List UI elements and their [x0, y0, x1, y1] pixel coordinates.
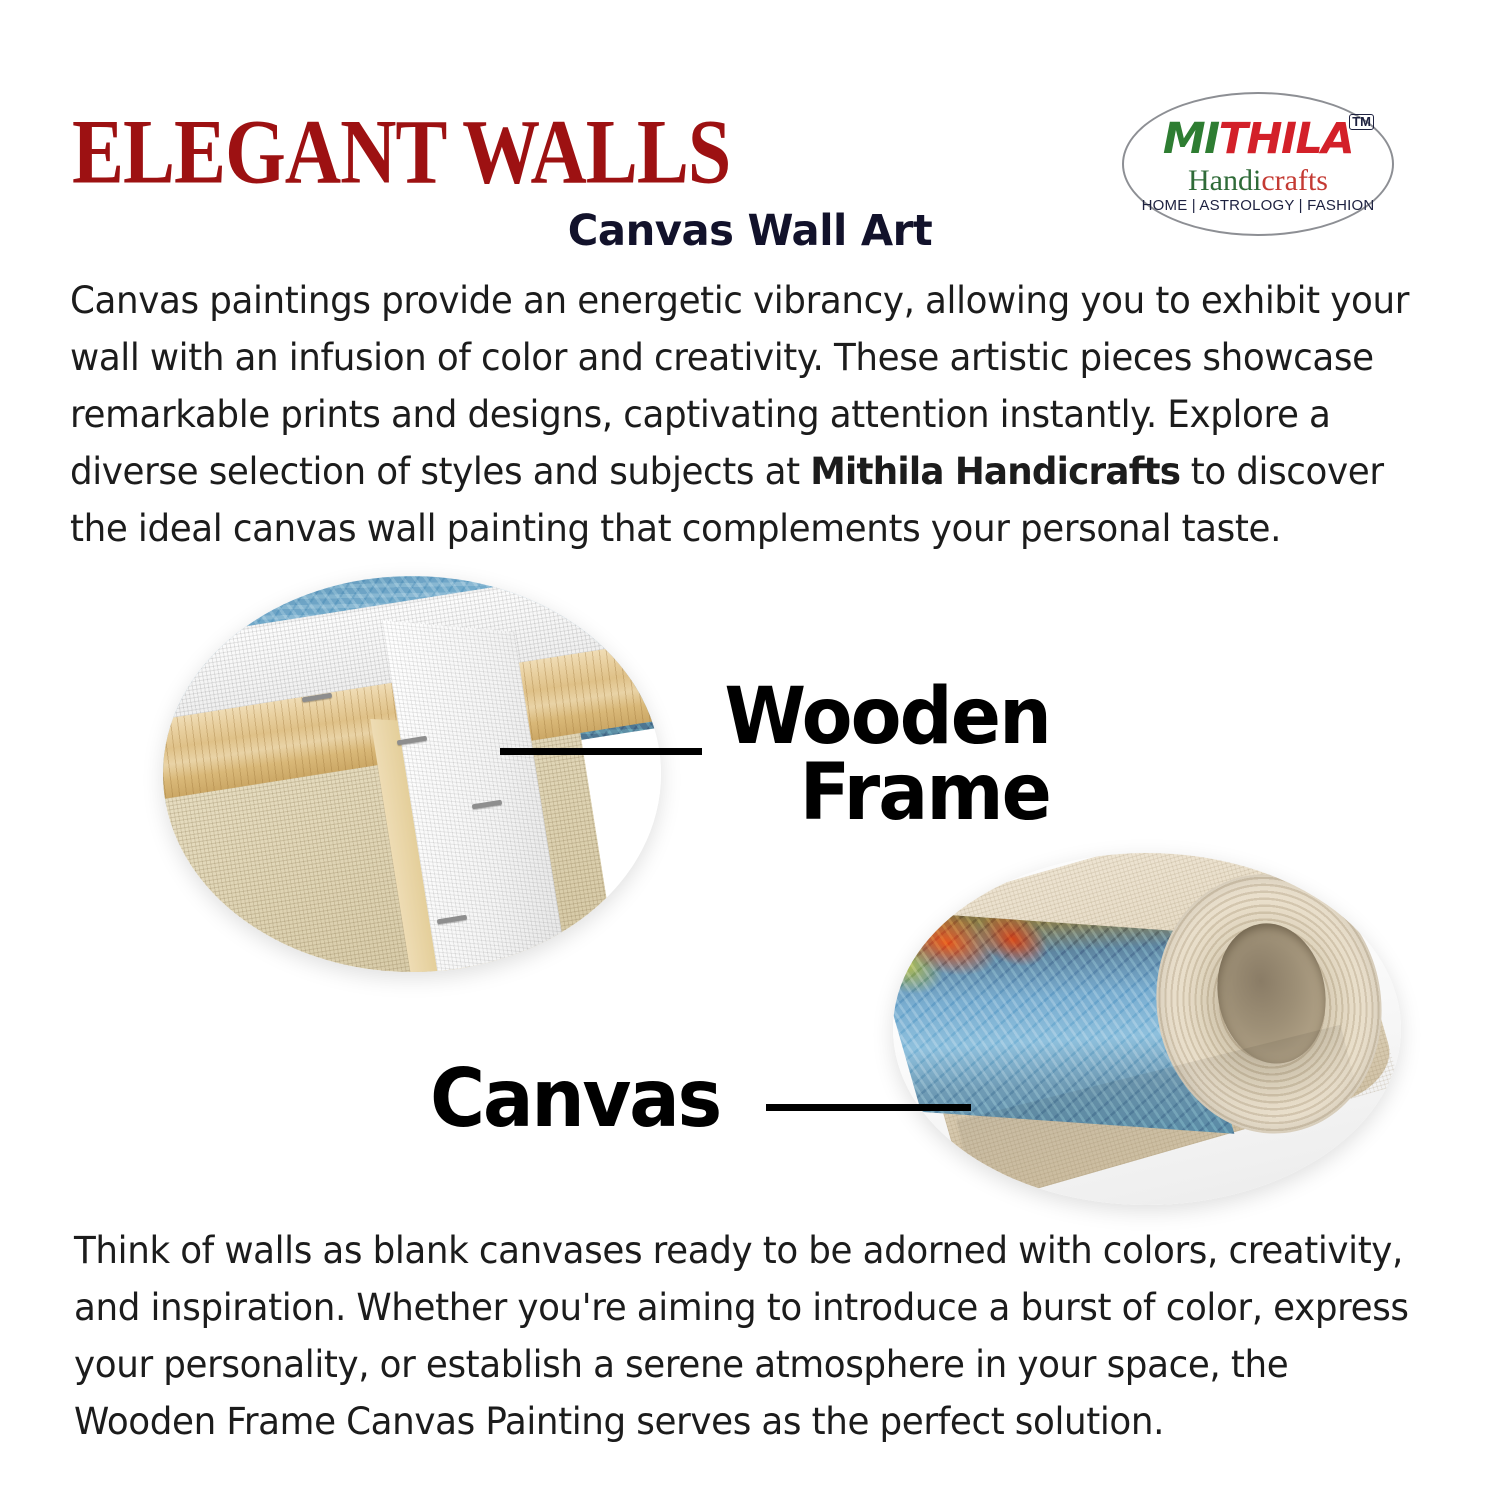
- stretched-canvas-back-photo: [163, 576, 661, 972]
- logo-sub-part1: Handi: [1188, 164, 1261, 197]
- wooden-frame-label-line2: Frame: [718, 756, 1051, 832]
- logo-wordmark-part1: MI: [1163, 114, 1219, 164]
- logo-wordmark-part2: THILA: [1219, 114, 1354, 164]
- logo-subwordmark: Handicrafts: [1122, 166, 1394, 196]
- wooden-frame-leader-line: [500, 748, 702, 755]
- page-subtitle: Canvas Wall Art: [23, 208, 1478, 255]
- canvas-leader-line: [766, 1104, 971, 1111]
- intro-brand-emphasis: Mithila Handicrafts: [810, 450, 1180, 493]
- page-title: ELEGANT WALLS: [72, 106, 730, 198]
- logo-sub-part2: crafts: [1261, 164, 1328, 197]
- infographic-page: ELEGANT WALLS MITHILA TM Handicrafts HOM…: [0, 0, 1500, 1500]
- rolled-canvas-photo: [893, 853, 1401, 1205]
- intro-paragraph: Canvas paintings provide an energetic vi…: [70, 272, 1411, 557]
- closing-paragraph: Think of walls as blank canvases ready t…: [74, 1222, 1415, 1450]
- canvas-label: Canvas: [430, 1060, 720, 1138]
- rolled-canvas-illustration: [893, 853, 1401, 1205]
- trademark-icon: TM: [1349, 114, 1374, 130]
- stretched-canvas-illustration: [163, 576, 661, 972]
- wooden-frame-label-line1: Wooden: [718, 680, 1051, 756]
- wooden-frame-label: Wooden Frame: [718, 680, 1051, 831]
